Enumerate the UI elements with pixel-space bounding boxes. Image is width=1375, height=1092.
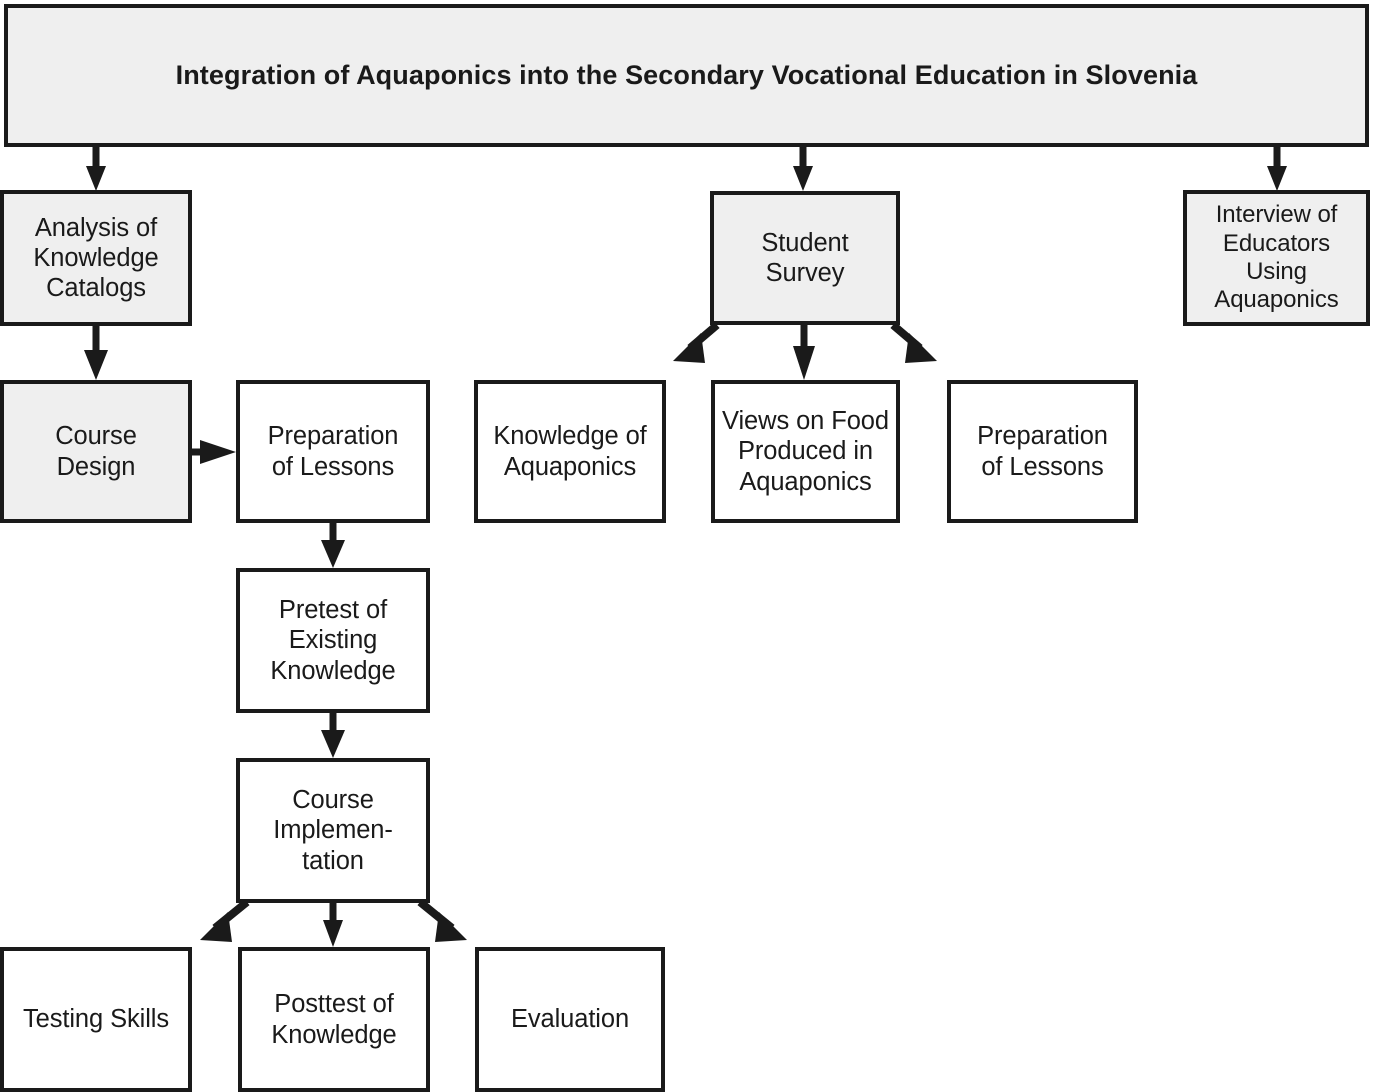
edge-layer: [0, 0, 1375, 1092]
edge-analysis-to-course-design: [84, 325, 108, 380]
flowchart-canvas: Integration of Aquaponics into the Secon…: [0, 0, 1375, 1092]
edge-course-impl-to-testing-skills: [200, 902, 247, 942]
node-label: Evaluation: [505, 1004, 635, 1034]
node-pretest-of-existing-knowledge[interactable]: Pretest ofExistingKnowledge: [236, 568, 430, 713]
node-label: Preparationof Lessons: [262, 421, 405, 481]
node-preparation-of-lessons-course[interactable]: Preparationof Lessons: [236, 380, 430, 523]
node-label: Testing Skills: [17, 1004, 175, 1034]
node-label: Knowledge ofAquaponics: [487, 421, 652, 481]
node-posttest-of-knowledge[interactable]: Posttest ofKnowledge: [238, 947, 430, 1092]
node-analysis-of-knowledge-catalogs[interactable]: Analysis ofKnowledgeCatalogs: [0, 190, 192, 326]
node-preparation-of-lessons-survey[interactable]: Preparationof Lessons: [947, 380, 1138, 523]
node-views-on-food-produced-in-aquaponics[interactable]: Views on FoodProduced inAquaponics: [711, 380, 900, 523]
node-label: Pretest ofExistingKnowledge: [264, 595, 401, 685]
node-label: Analysis ofKnowledgeCatalogs: [27, 213, 164, 303]
edge-prep-lessons-to-pretest: [321, 522, 345, 568]
node-label: Preparationof Lessons: [971, 421, 1114, 481]
edge-course-impl-to-evaluation: [420, 902, 467, 942]
node-label: Interview ofEducatorsUsingAquaponics: [1208, 201, 1344, 314]
edge-student-survey-to-views-food: [793, 325, 815, 380]
node-course-implementation[interactable]: CourseImplemen-tation: [236, 758, 430, 903]
node-label: Views on FoodProduced inAquaponics: [716, 406, 895, 496]
title-box: Integration of Aquaponics into the Secon…: [4, 4, 1369, 147]
node-course-design[interactable]: CourseDesign: [0, 380, 192, 523]
title-label: Integration of Aquaponics into the Secon…: [170, 60, 1204, 92]
node-testing-skills[interactable]: Testing Skills: [0, 947, 192, 1092]
node-interview-of-educators-using-aquaponics[interactable]: Interview ofEducatorsUsingAquaponics: [1183, 190, 1370, 326]
edge-title-to-analysis: [86, 147, 106, 191]
node-label: CourseImplemen-tation: [267, 785, 399, 875]
edge-student-survey-to-knowledge-aq: [673, 325, 717, 363]
edge-course-design-to-prep-lessons: [192, 440, 236, 464]
edge-pretest-to-course-impl: [321, 712, 345, 758]
node-knowledge-of-aquaponics[interactable]: Knowledge ofAquaponics: [474, 380, 666, 523]
node-label: CourseDesign: [49, 421, 143, 481]
node-student-survey[interactable]: StudentSurvey: [710, 191, 900, 325]
edge-title-to-interview: [1267, 147, 1287, 191]
node-label: Posttest ofKnowledge: [265, 989, 402, 1049]
node-evaluation[interactable]: Evaluation: [475, 947, 665, 1092]
edge-course-impl-to-posttest: [323, 902, 343, 947]
edge-student-survey-to-prep-lessons-2: [893, 325, 937, 363]
node-label: StudentSurvey: [755, 228, 854, 288]
edge-title-to-student-survey: [793, 147, 813, 191]
